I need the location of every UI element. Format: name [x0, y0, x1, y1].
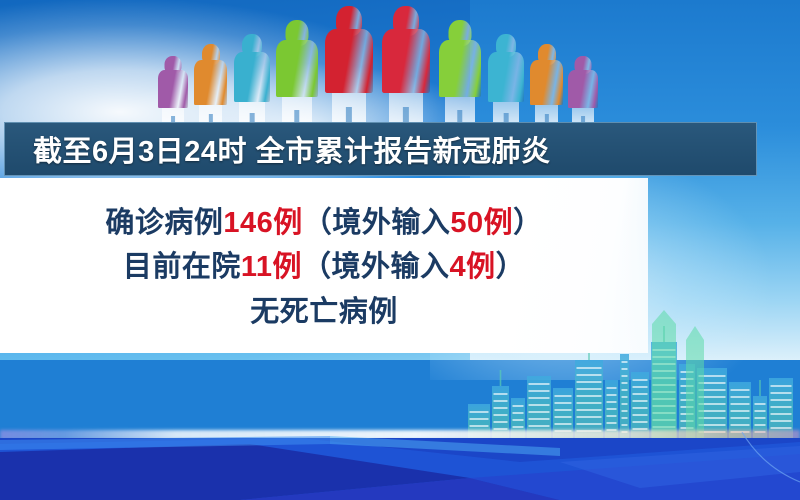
person-5-red: [325, 6, 373, 130]
title-banner: 截至6月3日24时 全市累计报告新冠肺炎: [4, 122, 757, 176]
person-8-cyan: [488, 34, 524, 130]
building: [769, 378, 793, 438]
imported-value-1: 50例: [450, 207, 513, 239]
hospitalized-label: 目前在院: [123, 251, 241, 283]
banner-title: 截至6月3日24时 全市累计报告新冠肺炎: [33, 128, 551, 170]
figure-body: [488, 52, 524, 102]
building: [492, 370, 509, 438]
stat-line-confirmed: 确诊病例146例（境外输入50例）: [105, 201, 542, 245]
hospitalized-paren-close: ）: [496, 251, 526, 283]
person-4-green: [276, 20, 318, 130]
broadcast-graphic: 截至6月3日24时 全市累计报告新冠肺炎 确诊病例146例（境外输入50例） 目…: [0, 0, 800, 500]
confirmed-paren-open: （: [303, 207, 333, 239]
stat-line-hospitalized: 目前在院11例（境外输入4例）: [123, 245, 525, 289]
statistics-panel: 确诊病例146例（境外输入50例） 目前在院11例（境外输入4例） 无死亡病例: [0, 178, 648, 353]
figure-body: [568, 70, 598, 108]
figure-body: [325, 29, 373, 93]
figure-body: [234, 52, 270, 102]
imported-label-1: 境外输入: [332, 207, 450, 239]
confirmed-value: 146例: [223, 207, 302, 239]
figure-body: [276, 40, 318, 97]
hospitalized-paren-open: （: [302, 251, 332, 283]
confirmed-paren-close: ）: [513, 207, 543, 239]
person-9-orange: [530, 44, 563, 130]
lower-blue-geometry: [0, 432, 800, 500]
figure-body: [158, 70, 188, 108]
figure-body: [194, 60, 227, 105]
figure-body: [439, 40, 481, 97]
figure-body: [530, 60, 563, 105]
person-6-red: [382, 6, 430, 130]
stat-line-deaths: 无死亡病例: [250, 290, 398, 334]
imported-value-2: 4例: [450, 251, 496, 283]
person-2-orange: [194, 44, 227, 130]
figure-body: [382, 29, 430, 93]
person-3-cyan: [234, 34, 270, 130]
building: [631, 372, 649, 438]
person-7-green: [439, 20, 481, 130]
person-10-purple: [568, 56, 598, 130]
building: [527, 376, 551, 438]
hospitalized-value: 11例: [241, 251, 302, 283]
confirmed-label: 确诊病例: [105, 207, 223, 239]
people-figures-group: [150, 0, 570, 130]
person-1-purple: [158, 56, 188, 130]
imported-label-2: 境外输入: [332, 251, 450, 283]
